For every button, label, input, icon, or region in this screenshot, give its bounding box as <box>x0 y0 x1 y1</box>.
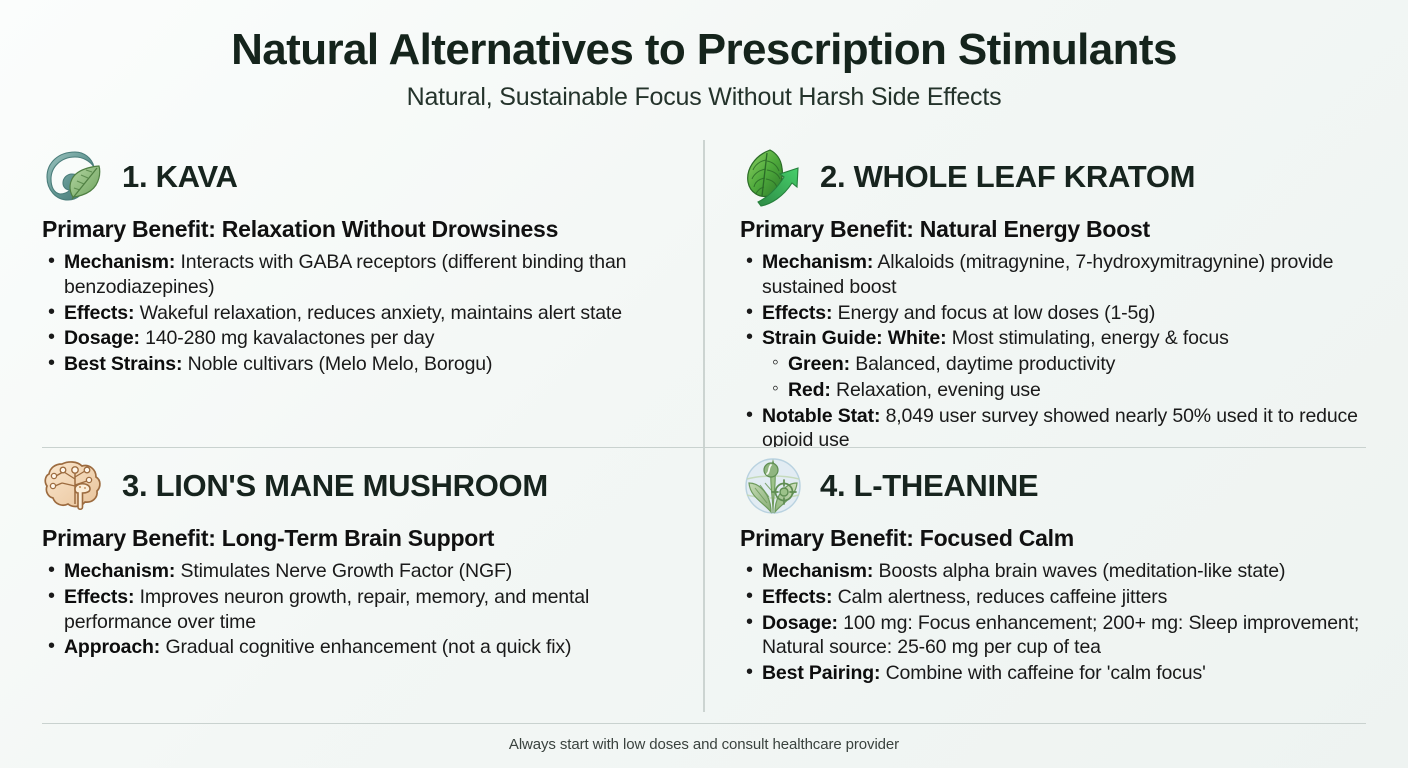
page-title: Natural Alternatives to Prescription Sti… <box>0 26 1408 74</box>
bullet-text: 140-280 mg kavalactones per day <box>145 327 434 349</box>
bullet-label: Green: <box>788 353 850 375</box>
card-l-theanine: 4. L-THEANINE Primary Benefit: Focused C… <box>704 447 1408 712</box>
bullet-text: 100 mg: Focus enhancement; 200+ mg: Slee… <box>762 612 1359 659</box>
bullet-label: Dosage: <box>762 612 838 634</box>
bullet-text: Noble cultivars (Melo Melo, Borogu) <box>188 353 493 375</box>
cards-grid: 1. KAVA Primary Benefit: Relaxation With… <box>0 138 1408 712</box>
footer-divider <box>42 723 1366 724</box>
bullet-text: Energy and focus at low doses (1-5g) <box>838 302 1156 324</box>
card-header: 1. KAVA <box>42 144 678 210</box>
bullet-label: Red: <box>788 379 831 401</box>
list-item: Dosage: 140-280 mg kavalactones per day <box>42 326 678 351</box>
card-title: 1. KAVA <box>122 159 238 195</box>
list-item: Mechanism: Alkaloids (mitragynine, 7-hyd… <box>740 250 1382 300</box>
bullet-list: Mechanism: Stimulates Nerve Growth Facto… <box>42 559 678 660</box>
primary-benefit: Primary Benefit: Relaxation Without Drow… <box>42 216 678 243</box>
list-item: Effects: Wakeful relaxation, reduces anx… <box>42 301 678 326</box>
list-item-sub: Green: Balanced, daytime productivity <box>740 352 1382 377</box>
list-item: Effects: Improves neuron growth, repair,… <box>42 585 678 635</box>
list-item: Approach: Gradual cognitive enhancement … <box>42 635 678 660</box>
list-item: Effects: Energy and focus at low doses (… <box>740 301 1382 326</box>
bullet-label: Approach: <box>64 636 160 658</box>
leaf-growth-arrow-icon <box>740 146 806 208</box>
primary-benefit: Primary Benefit: Natural Energy Boost <box>740 216 1382 243</box>
wave-leaf-icon <box>42 146 108 208</box>
bullet-text: Relaxation, evening use <box>836 379 1041 401</box>
bullet-text: Gradual cognitive enhancement (not a qui… <box>165 636 571 658</box>
bullet-label: Effects: <box>64 302 134 324</box>
bullet-label: Best Strains: <box>64 353 182 375</box>
list-item: Mechanism: Boosts alpha brain waves (med… <box>740 559 1382 584</box>
card-header: 4. L-THEANINE <box>740 453 1382 519</box>
bullet-text: Wakeful relaxation, reduces anxiety, mai… <box>140 302 622 324</box>
bullet-text: Boosts alpha brain waves (meditation-lik… <box>878 560 1285 582</box>
list-item: Mechanism: Stimulates Nerve Growth Facto… <box>42 559 678 584</box>
bullet-text: Improves neuron growth, repair, memory, … <box>64 586 589 633</box>
footer-disclaimer: Always start with low doses and consult … <box>0 736 1408 753</box>
bullet-text: Most stimulating, energy & focus <box>952 327 1229 349</box>
bullet-label: Mechanism: <box>762 560 873 582</box>
bullet-label: Mechanism: <box>64 560 175 582</box>
primary-benefit: Primary Benefit: Focused Calm <box>740 525 1382 552</box>
page-subtitle: Natural, Sustainable Focus Without Harsh… <box>0 83 1408 112</box>
bullet-label: Best Pairing: <box>762 662 880 684</box>
bullet-label: Mechanism: <box>64 251 175 273</box>
card-header: 3. LION'S MANE MUSHROOM <box>42 453 678 519</box>
bullet-label: Effects: <box>64 586 134 608</box>
bullet-label: Dosage: <box>64 327 140 349</box>
bullet-list: Mechanism: Interacts with GABA receptors… <box>42 250 678 377</box>
list-item: Best Pairing: Combine with caffeine for … <box>740 661 1382 686</box>
bullet-text: Balanced, daytime productivity <box>855 353 1115 375</box>
list-item-sub: Red: Relaxation, evening use <box>740 378 1382 403</box>
list-item: Best Strains: Noble cultivars (Melo Melo… <box>42 352 678 377</box>
bullet-text: Stimulates Nerve Growth Factor (NGF) <box>180 560 512 582</box>
list-item: Dosage: 100 mg: Focus enhancement; 200+ … <box>740 611 1382 661</box>
list-item: Strain Guide: White: Most stimulating, e… <box>740 326 1382 351</box>
bullet-list: Mechanism: Boosts alpha brain waves (med… <box>740 559 1382 686</box>
bullet-list: Mechanism: Alkaloids (mitragynine, 7-hyd… <box>740 250 1382 447</box>
card-title: 2. WHOLE LEAF KRATOM <box>820 159 1195 195</box>
bullet-label: Mechanism: <box>762 251 873 273</box>
card-title: 3. LION'S MANE MUSHROOM <box>122 468 548 504</box>
bullet-text: Combine with caffeine for 'calm focus' <box>886 662 1206 684</box>
header: Natural Alternatives to Prescription Sti… <box>0 0 1408 112</box>
bullet-label: Strain Guide: White: <box>762 327 946 349</box>
bullet-label: Effects: <box>762 586 832 608</box>
bullet-text: Calm alertness, reduces caffeine jitters <box>838 586 1168 608</box>
card-header: 2. WHOLE LEAF KRATOM <box>740 144 1382 210</box>
brain-mushroom-icon <box>42 455 108 517</box>
leaf-target-focus-icon <box>740 455 806 517</box>
card-kava: 1. KAVA Primary Benefit: Relaxation With… <box>0 138 704 447</box>
primary-benefit: Primary Benefit: Long-Term Brain Support <box>42 525 678 552</box>
card-title: 4. L-THEANINE <box>820 468 1038 504</box>
card-whole-leaf-kratom: 2. WHOLE LEAF KRATOM Primary Benefit: Na… <box>704 138 1408 447</box>
list-item: Effects: Calm alertness, reduces caffein… <box>740 585 1382 610</box>
card-lions-mane-mushroom: 3. LION'S MANE MUSHROOM Primary Benefit:… <box>0 447 704 712</box>
bullet-label: Notable Stat: <box>762 405 880 427</box>
bullet-label: Effects: <box>762 302 832 324</box>
list-item: Mechanism: Interacts with GABA receptors… <box>42 250 678 300</box>
list-item: Notable Stat: 8,049 user survey showed n… <box>740 404 1382 448</box>
